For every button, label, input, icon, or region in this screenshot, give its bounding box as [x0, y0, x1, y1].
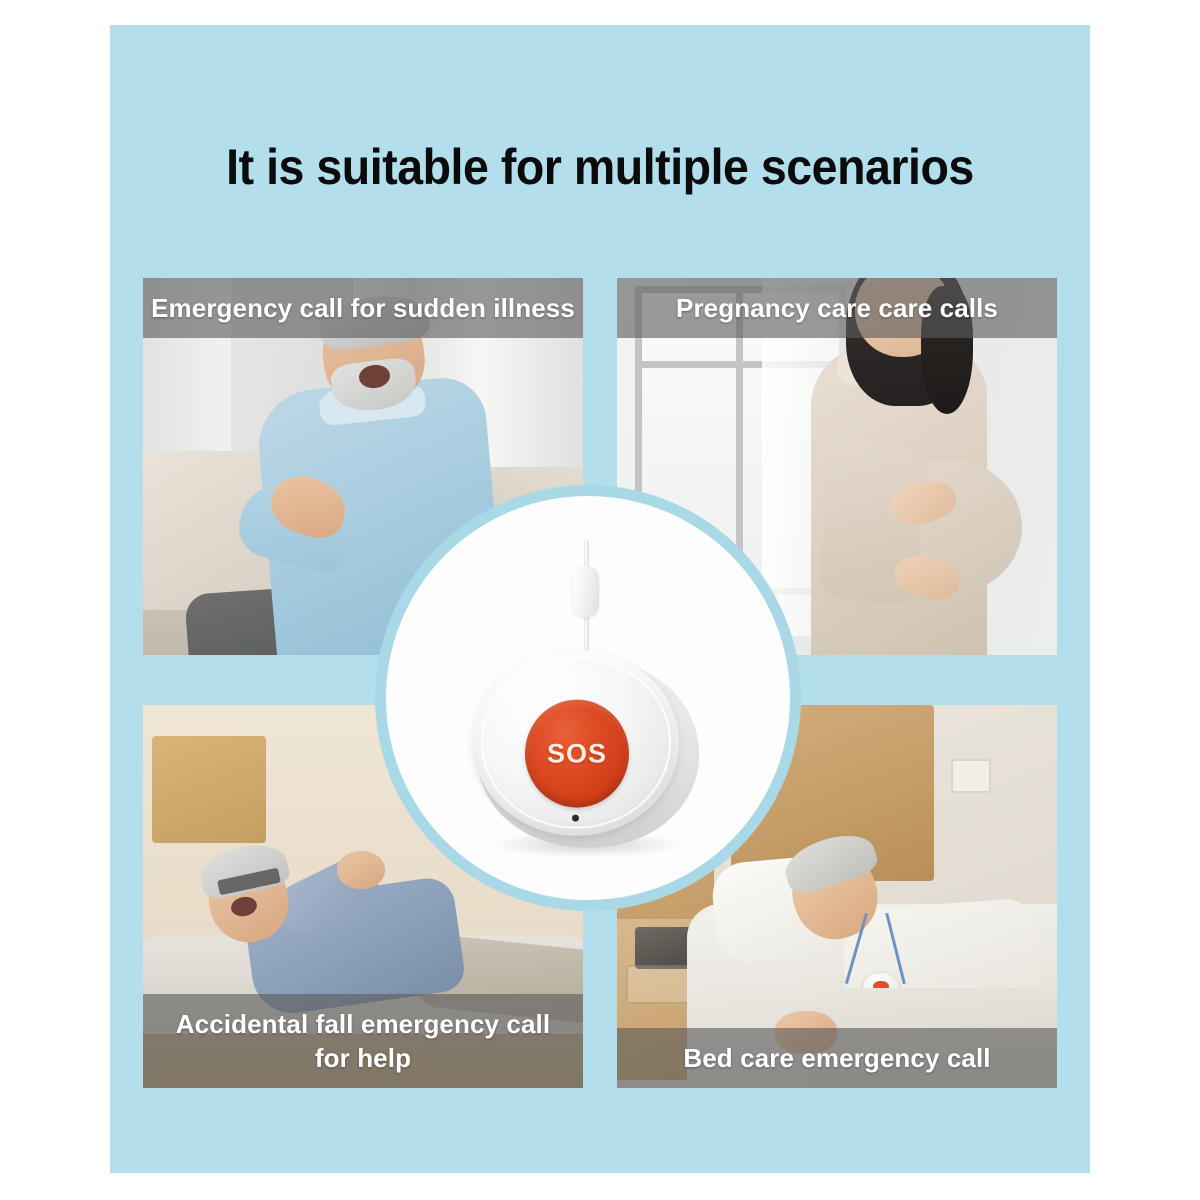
light-switch: [951, 759, 991, 793]
person-hand: [337, 851, 385, 889]
cabinet: [152, 736, 266, 843]
scenario-caption-fall-line2: for help: [149, 1041, 577, 1075]
scenario-caption-bed: Bed care emergency call: [617, 1028, 1057, 1088]
page-root: It is suitable for multiple scenarios: [0, 0, 1200, 1200]
poster-panel: It is suitable for multiple scenarios: [110, 25, 1090, 1173]
sos-button[interactable]: SOS: [525, 700, 629, 808]
product-spotlight-circle: SOS: [375, 485, 801, 911]
scenario-caption-fall-line1: Accidental fall emergency call: [149, 1007, 577, 1041]
sos-button-device[interactable]: SOS: [463, 540, 713, 870]
sos-button-label: SOS: [547, 738, 607, 769]
scenario-caption-illness: Emergency call for sudden illness: [143, 278, 583, 338]
page-title: It is suitable for multiple scenarios: [144, 138, 1055, 196]
scenario-caption-fall: Accidental fall emergency call for help: [143, 994, 583, 1088]
strain-relief-sleeve: [573, 566, 599, 618]
scenario-caption-pregnancy: Pregnancy care care calls: [617, 278, 1057, 338]
led-indicator-icon: [572, 815, 579, 822]
